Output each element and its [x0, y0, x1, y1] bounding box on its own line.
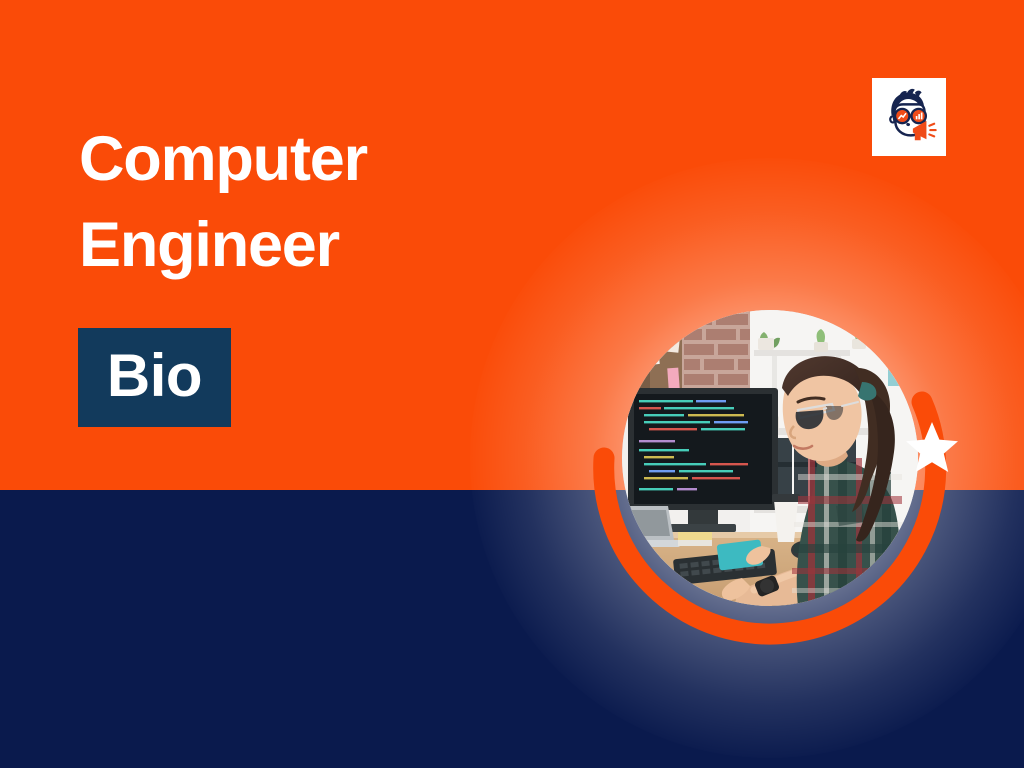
- bio-badge-label: Bio: [107, 346, 202, 406]
- profile-photo-group: [592, 280, 948, 636]
- slide-canvas: Computer Engineer Bio: [0, 0, 1024, 768]
- sparkle-star-icon: [904, 420, 960, 476]
- page-title: Computer Engineer: [79, 117, 599, 288]
- brand-mascot-logo-icon: [878, 86, 940, 148]
- bio-badge: Bio: [78, 328, 231, 427]
- profile-photo: [622, 310, 918, 606]
- brand-logo-tile[interactable]: [872, 78, 946, 156]
